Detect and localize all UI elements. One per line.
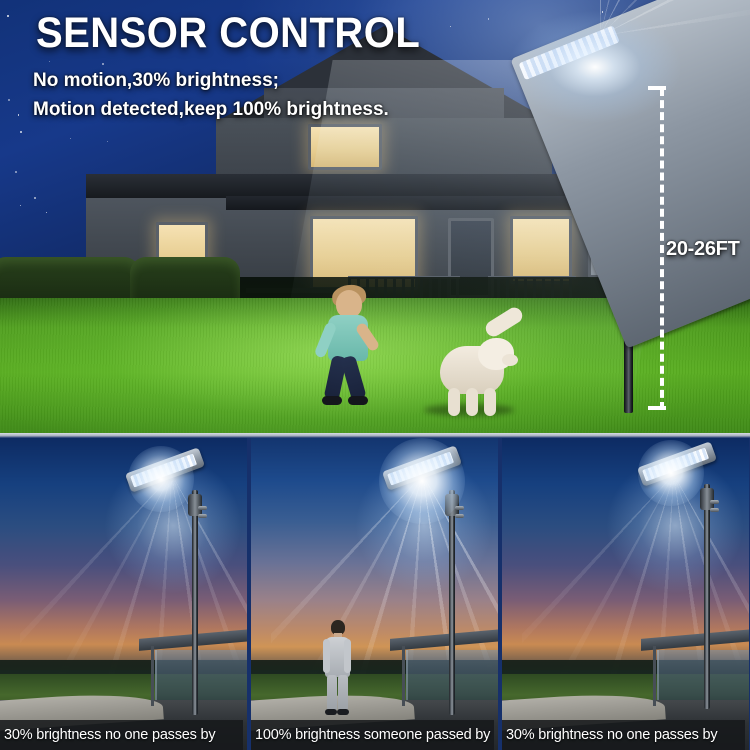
panel-caption-text: 30% brightness no one passes by — [506, 727, 717, 743]
boy-head — [336, 290, 362, 318]
panel-caption: 30% brightness no one passes by — [502, 720, 745, 750]
light-pole — [704, 484, 710, 709]
boy-leg-right — [340, 355, 367, 401]
mount-bolt-1 — [710, 500, 719, 504]
dog-leg-1 — [448, 388, 460, 416]
panel-caption: 30% brightness no one passes by — [0, 720, 243, 750]
building-glass — [155, 650, 247, 700]
light-pole — [449, 490, 455, 715]
running-dog — [432, 318, 524, 416]
carport-building — [641, 634, 749, 710]
panel-caption-text: 100% brightness someone passed by — [255, 727, 490, 743]
panel-low-2: 30% brightness no one passes by — [502, 438, 749, 750]
running-boy — [318, 290, 382, 410]
dog-leg-2 — [466, 388, 478, 416]
dimension-label: 20-26FT — [666, 238, 740, 261]
walking-man — [323, 620, 351, 716]
man-leg-left — [327, 675, 337, 711]
upper-window — [308, 124, 382, 170]
building-column — [151, 646, 154, 706]
light-core — [128, 446, 194, 512]
man-leg-right — [338, 675, 348, 711]
pole-mount-bracket — [188, 494, 202, 516]
light-core — [379, 438, 465, 524]
dog-snout — [502, 354, 518, 366]
mount-bolt-2 — [198, 514, 207, 518]
man-shoe-right — [337, 709, 349, 715]
mount-bolt-1 — [198, 506, 207, 510]
man-shoe-left — [325, 709, 337, 715]
hero-scene: 20-26FT SENSOR CONTROL No motion,30% bri… — [0, 0, 750, 433]
building-column — [653, 646, 656, 706]
boy-shoe-left — [322, 396, 342, 405]
panel-low-1: 30% brightness no one passes by — [0, 438, 247, 750]
light-core — [638, 440, 704, 506]
comparison-panel-row: 30% brightness no one passes by — [0, 438, 750, 750]
hero-subtitle-line-2: Motion detected,keep 100% brightness. — [33, 99, 389, 121]
upper-storey-wall — [216, 118, 552, 180]
panel-caption-text: 30% brightness no one passes by — [4, 727, 215, 743]
page-title: SENSOR CONTROL — [36, 9, 420, 58]
dimension-tick-bottom — [648, 406, 666, 410]
hero-subtitle-line-1: No motion,30% brightness; — [33, 70, 279, 92]
man-arm-left — [323, 639, 330, 673]
man-arm-right — [344, 639, 351, 673]
building-column — [402, 646, 405, 706]
light-pole — [192, 490, 198, 715]
boy-shoe-right — [348, 396, 368, 405]
mount-bolt-2 — [710, 508, 719, 512]
mount-bolt-2 — [455, 514, 464, 518]
product-feature-image: 20-26FT SENSOR CONTROL No motion,30% bri… — [0, 0, 750, 750]
dimension-line-icon — [660, 88, 664, 410]
dog-leg-3 — [484, 388, 496, 416]
building-glass — [657, 650, 749, 700]
carport-building — [390, 634, 498, 710]
panel-caption: 100% brightness someone passed by — [251, 720, 494, 750]
panel-full: 100% brightness someone passed by — [251, 438, 498, 750]
pole-mount-bracket — [700, 488, 714, 510]
